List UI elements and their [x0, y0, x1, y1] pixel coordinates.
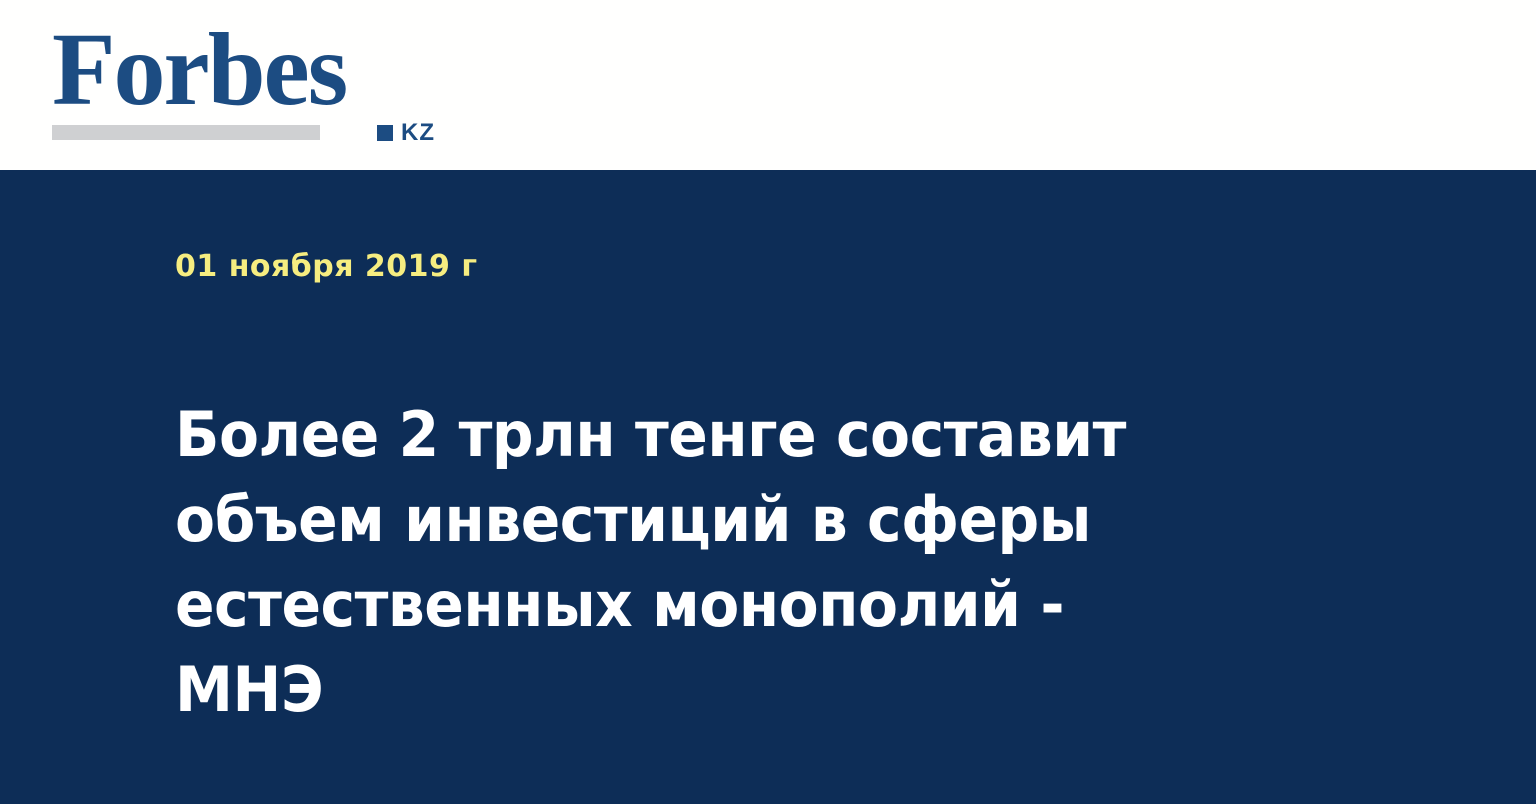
site-header: Forbes KZ — [0, 0, 1536, 170]
square-icon — [377, 125, 393, 141]
article-hero: 01 ноября 2019 г Более 2 трлн тенге сост… — [0, 170, 1536, 804]
logo-country-suffix: KZ — [401, 121, 435, 145]
article-date: 01 ноября 2019 г — [175, 250, 478, 284]
underline-bar-icon — [52, 125, 320, 140]
article-headline: Более 2 трлн тенге составит объем инвест… — [175, 392, 1228, 732]
forbes-kz-logo[interactable]: Forbes KZ — [52, 22, 412, 144]
forbes-wordmark: Forbes — [52, 22, 346, 118]
article-hero-page: Forbes KZ 01 ноября 2019 г Более 2 трлн … — [0, 0, 1536, 804]
